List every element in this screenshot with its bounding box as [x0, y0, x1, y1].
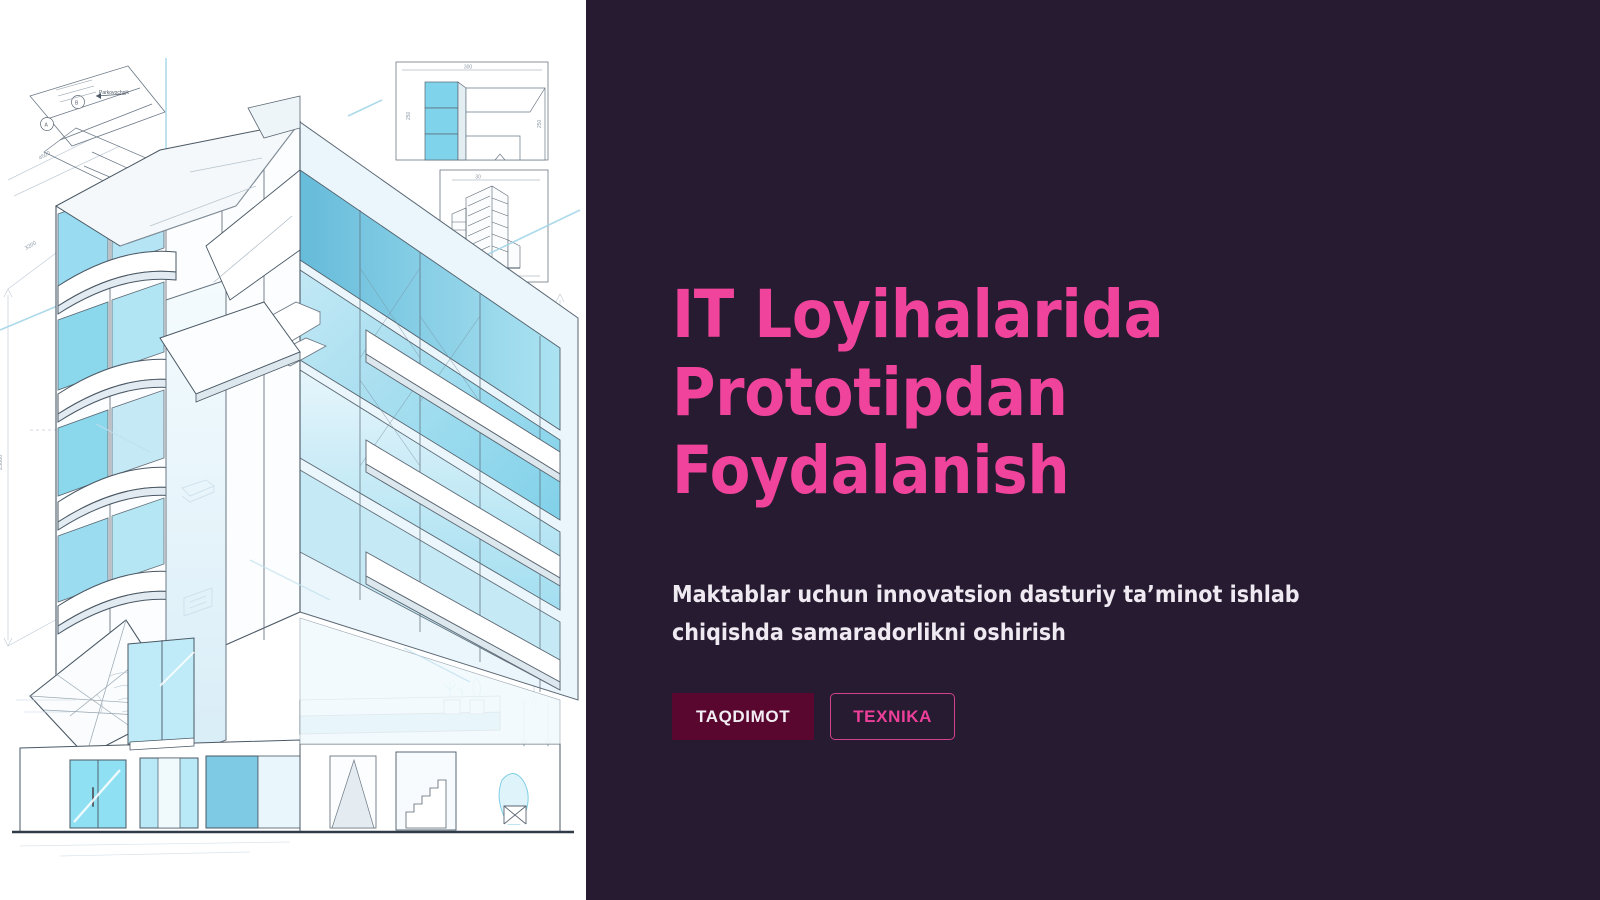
wall-section-detail: 300 250 250: [396, 62, 548, 160]
page-title: IT Loyihalarida Prototipdan Foydalanish: [672, 276, 1472, 510]
illustration-panel: 23000 23000 3200 4500 3200: [0, 0, 586, 900]
taqdimot-button[interactable]: TAQDIMOT: [672, 693, 814, 740]
content-panel: IT Loyihalarida Prototipdan Foydalanish …: [586, 0, 1600, 900]
slide-root: 23000 23000 3200 4500 3200: [0, 0, 1600, 900]
svg-text:30: 30: [475, 175, 481, 181]
button-row: TAQDIMOT TEXNIKA: [672, 652, 1472, 740]
architectural-drawing-svg: 23000 23000 3200 4500 3200: [0, 0, 586, 900]
hero-content: IT Loyihalarida Prototipdan Foydalanish …: [672, 276, 1472, 740]
svg-text:250: 250: [406, 111, 412, 120]
svg-text:23000: 23000: [0, 455, 4, 470]
roof-callout-label: Parkovochnik: [99, 90, 130, 96]
svg-text:300: 300: [464, 65, 473, 71]
svg-text:250: 250: [537, 119, 543, 128]
planter-stool: [504, 806, 526, 824]
page-subtitle: Maktablar uchun innovatsion dasturiy ta’…: [672, 510, 1402, 652]
texnika-button[interactable]: TEXNIKA: [830, 693, 955, 740]
